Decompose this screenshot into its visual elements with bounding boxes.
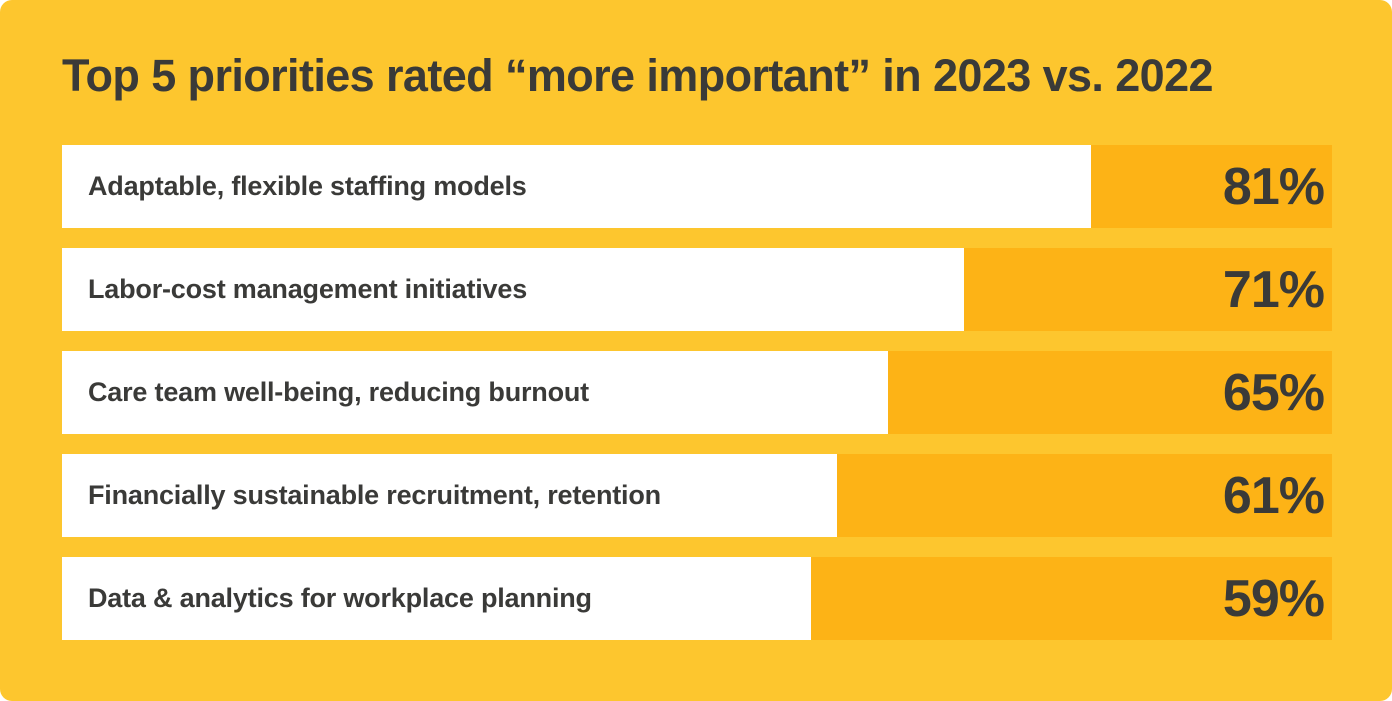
bar-row: Labor-cost management initiatives 71% xyxy=(62,248,1332,331)
bar-row: Care team well-being, reducing burnout 6… xyxy=(62,351,1332,434)
bar-value: 61% xyxy=(1223,454,1324,537)
bar-label: Care team well-being, reducing burnout xyxy=(88,351,589,434)
bar-row: Adaptable, flexible staffing models 81% xyxy=(62,145,1332,228)
bar-label: Financially sustainable recruitment, ret… xyxy=(88,454,661,537)
bar-row: Data & analytics for workplace planning … xyxy=(62,557,1332,640)
page-title: Top 5 priorities rated “more important” … xyxy=(62,40,1362,110)
bar-row: Financially sustainable recruitment, ret… xyxy=(62,454,1332,537)
bar-label: Labor-cost management initiatives xyxy=(88,248,527,331)
bar-value: 59% xyxy=(1223,557,1324,640)
bar-label: Adaptable, flexible staffing models xyxy=(88,145,527,228)
bar-label: Data & analytics for workplace planning xyxy=(88,557,592,640)
infographic-card: Top 5 priorities rated “more important” … xyxy=(0,0,1392,701)
bar-value: 81% xyxy=(1223,145,1324,228)
bar-chart: Adaptable, flexible staffing models 81% … xyxy=(62,145,1332,639)
bar-value: 71% xyxy=(1223,248,1324,331)
bar-value: 65% xyxy=(1223,351,1324,434)
